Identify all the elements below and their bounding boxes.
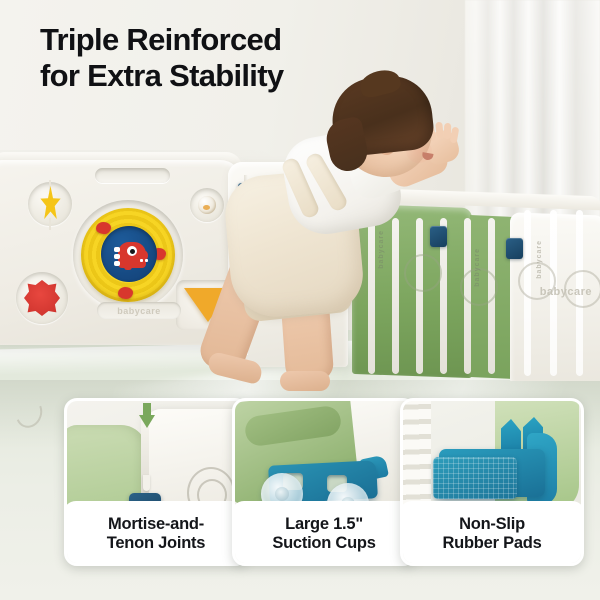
- fence-brand-text: babycare: [536, 240, 543, 279]
- feature-card-suction-cups[interactable]: Large 1.5" Suction Cups: [232, 398, 416, 566]
- card-label-line-2: Suction Cups: [272, 534, 375, 553]
- dinosaur-spike: [114, 247, 120, 252]
- card-label-mortise-tenon: Mortise-and- Tenon Joints: [64, 501, 248, 566]
- product-logo: babycare: [540, 286, 592, 298]
- feature-card-mortise-tenon[interactable]: Mortise-and- Tenon Joints: [64, 398, 248, 566]
- toddler-photo: [200, 95, 460, 395]
- page-title: Triple Reinforced for Extra Stability: [40, 22, 460, 95]
- star-toy-tail: [49, 218, 51, 230]
- feature-card-rubber-pads[interactable]: Non-Slip Rubber Pads: [400, 398, 584, 566]
- panel-brand-emboss: babycare: [97, 302, 181, 319]
- arrow-head: [139, 415, 155, 428]
- dinosaur-leg: [124, 264, 132, 270]
- dinosaur-spike: [114, 254, 120, 259]
- toddler-finger: [435, 122, 444, 139]
- panel-handle-slot: [95, 168, 170, 183]
- headline-line-2: for Extra Stability: [40, 58, 460, 94]
- fence-brand-text: babycare: [474, 248, 481, 287]
- dinosaur-icon: [112, 238, 148, 270]
- tenon-peg: [143, 475, 150, 491]
- toddler-back-foot: [206, 351, 264, 385]
- card-label-line-1: Large 1.5": [285, 515, 363, 534]
- non-slip-rubber-pad: [433, 457, 517, 499]
- dinosaur-tooth: [140, 259, 143, 262]
- dinosaur-tooth: [145, 259, 148, 262]
- product-feature-image: babycare babycare babycare babycare baby…: [0, 0, 600, 600]
- feature-card-row: Mortise-and- Tenon Joints La: [0, 398, 600, 578]
- toddler-finger: [450, 127, 460, 144]
- toddler-front-foot: [280, 371, 330, 391]
- dinosaur-pupil: [130, 249, 135, 254]
- card-label-rubber-pads: Non-Slip Rubber Pads: [400, 501, 584, 566]
- dinosaur-spike: [114, 261, 120, 266]
- flower-toy: [24, 280, 60, 316]
- suction-cup-core: [275, 487, 289, 501]
- down-arrow-icon: [139, 403, 155, 429]
- card-label-line-1: Mortise-and-: [108, 515, 204, 534]
- disc-blob-decal: [96, 222, 111, 234]
- card-label-suction-cups: Large 1.5" Suction Cups: [232, 501, 416, 566]
- disc-blob-decal: [118, 287, 133, 299]
- card-label-line-2: Rubber Pads: [442, 534, 541, 553]
- connector-clip: [506, 238, 523, 259]
- headline-line-1: Triple Reinforced: [40, 22, 281, 57]
- card-label-line-2: Tenon Joints: [107, 534, 205, 553]
- card-label-line-1: Non-Slip: [459, 515, 525, 534]
